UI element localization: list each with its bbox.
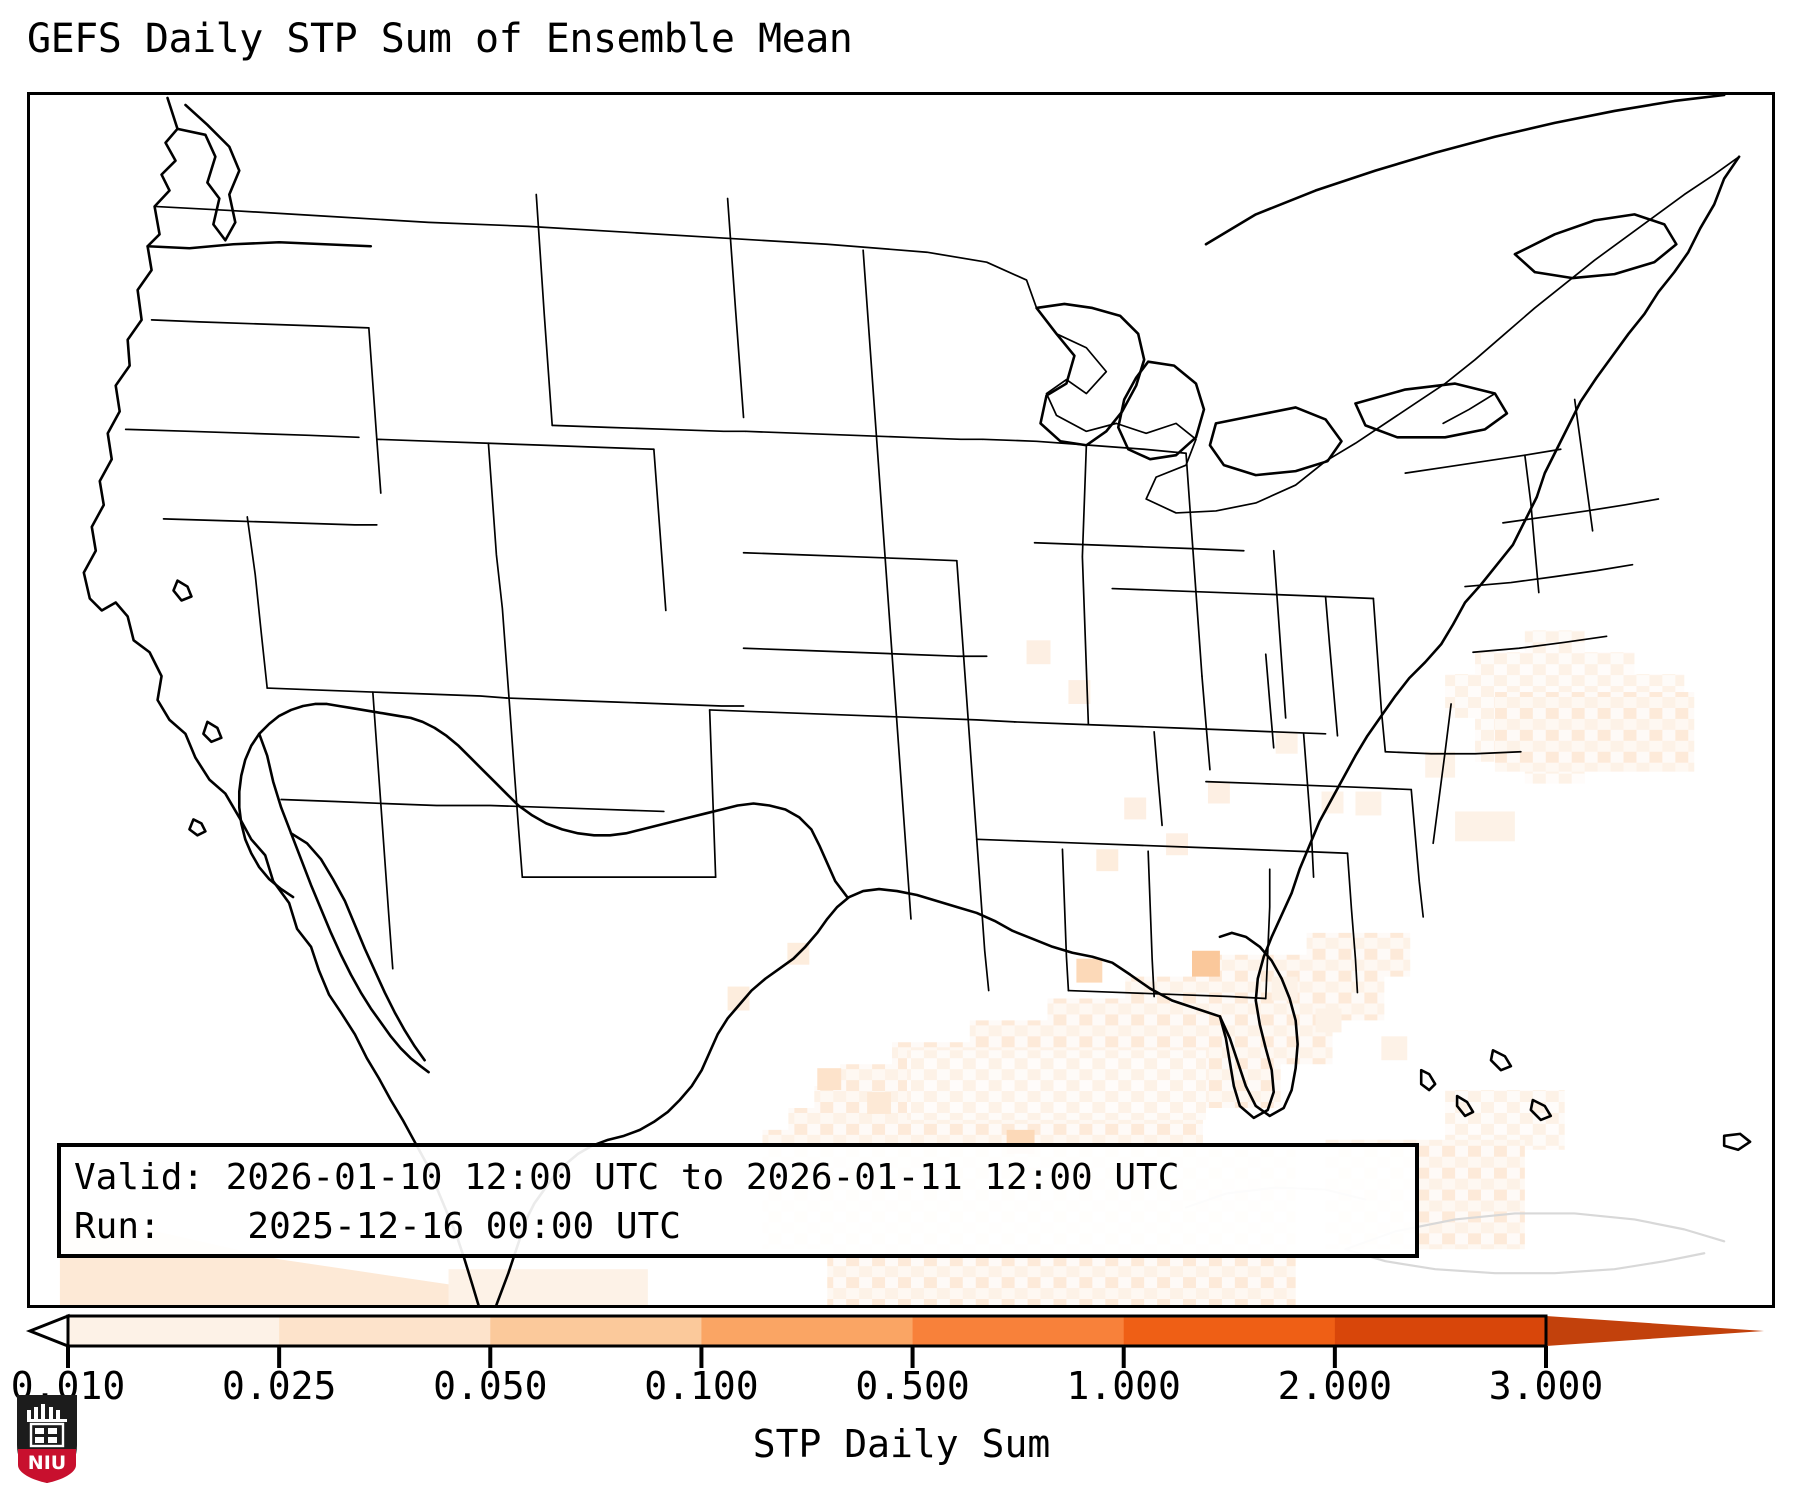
colorbar-band	[1335, 1316, 1547, 1346]
state-borders-south	[977, 394, 1659, 999]
colorbar-band	[490, 1316, 702, 1346]
colorbar-tick-label: 0.100	[644, 1365, 758, 1407]
state-borders-west	[126, 195, 746, 969]
map-panel[interactable]	[27, 92, 1775, 1308]
page-title: GEFS Daily STP Sum of Ensemble Mean	[27, 16, 852, 62]
valid-run-info-box: Valid: 2026-01-10 12:00 UTC to 2026-01-1…	[57, 1143, 1419, 1258]
colorbar-tick-label: 1.000	[1067, 1365, 1181, 1407]
colorbar-tick-label: 0.025	[222, 1365, 336, 1407]
colorbar-band	[279, 1316, 491, 1346]
colorbar-tick-label: 3.000	[1489, 1365, 1603, 1407]
colorbar-tick-label: 2.000	[1278, 1365, 1392, 1407]
colorbar-extend-min	[30, 1316, 68, 1346]
colorbar-tick-labels: 0.0100.0250.0500.1000.5001.0002.0003.000	[0, 1365, 1803, 1415]
colorbar-tick-label: 0.500	[855, 1365, 969, 1407]
niu-logo[interactable]: NIU	[14, 1393, 80, 1485]
niu-wordmark: NIU	[28, 1452, 66, 1474]
colorbar-band	[1124, 1316, 1336, 1346]
colorbar-axis-label: STP Daily Sum	[0, 1422, 1803, 1466]
colorbar-band	[68, 1316, 280, 1346]
geography-outlines	[30, 95, 1772, 1305]
valid-time-line: Valid: 2026-01-10 12:00 UTC to 2026-01-1…	[74, 1153, 1415, 1202]
baja-california	[174, 581, 429, 1073]
bahamas-outlines	[1421, 1050, 1750, 1150]
run-time-line: Run: 2025-12-16 00:00 UTC	[74, 1202, 1415, 1251]
coastline-west	[84, 98, 479, 1305]
state-borders-plains	[710, 250, 1386, 919]
coastline-east	[1220, 157, 1739, 1118]
state-borders-midatlantic	[1154, 597, 1337, 826]
weather-map-figure: GEFS Daily STP Sum of Ensemble Mean	[0, 0, 1803, 1500]
colorbar-extend-max	[1546, 1316, 1764, 1346]
colorbar-tick-label: 0.050	[433, 1365, 547, 1407]
colorbar-band	[701, 1316, 913, 1346]
colorbar-swatches[interactable]	[0, 1310, 1803, 1370]
colorbar-band	[913, 1316, 1125, 1346]
northern-border	[155, 95, 1740, 513]
colorbar[interactable]: 0.0100.0250.0500.1000.5001.0002.0003.000…	[0, 1310, 1803, 1500]
